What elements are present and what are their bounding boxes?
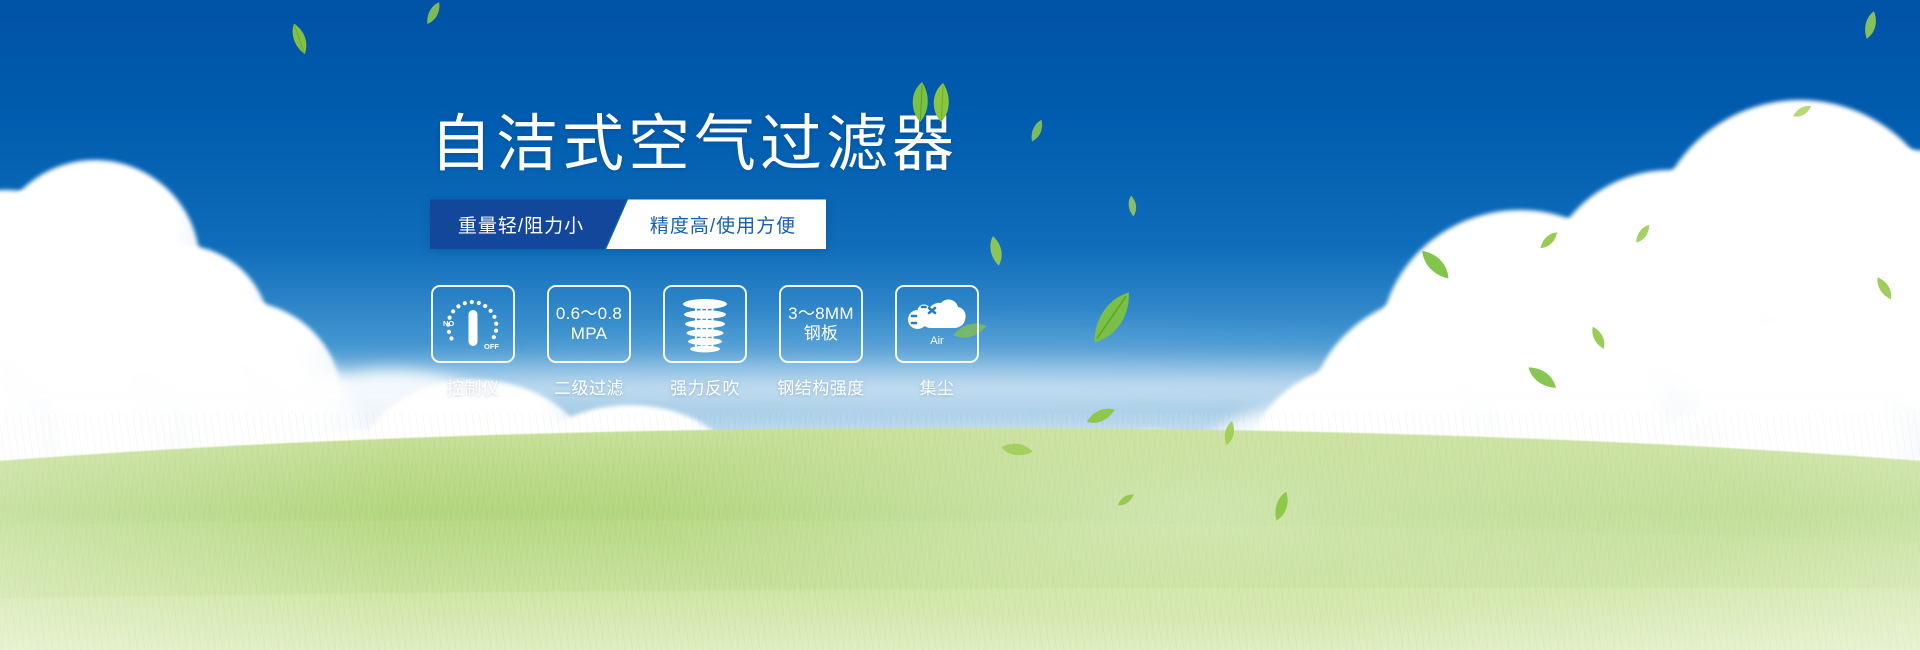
steel-value-line1: 3～8MM (788, 304, 854, 323)
floating-leaf-icon (1789, 100, 1815, 123)
floating-leaf-icon (283, 19, 314, 58)
feature-item-controller[interactable]: NO OFF 控制仪 (430, 285, 516, 399)
feature-list: NO OFF 控制仪 0.6～0.8 MPA 二级过滤 (430, 285, 1130, 399)
floating-leaf-icon (1534, 226, 1563, 255)
steel-plate-text-icon: 3～8MM 钢板 (779, 285, 863, 363)
feature-label: 二级过滤 (554, 374, 624, 399)
feature-label: 强力反吹 (670, 374, 740, 399)
feature-label: 控制仪 (447, 374, 500, 399)
feature-item-dust[interactable]: Air 集尘 (894, 285, 980, 399)
air-label: Air (930, 335, 944, 347)
grass-hill-front (0, 588, 1920, 650)
air-cloud-icon: Air (895, 285, 979, 363)
tagline-right: 精度高/使用方便 (606, 199, 826, 249)
banner-stage: 自洁式空气过滤器 重量轻/阻力小 精度高/使用方便 (0, 0, 1920, 650)
page-title: 自洁式空气过滤器 (430, 110, 958, 179)
dial-on-label: NO (443, 319, 454, 328)
feature-label: 集尘 (920, 374, 955, 399)
pressure-value-line1: 0.6～0.8 (556, 304, 622, 323)
floating-leaf-icon (420, 0, 447, 28)
banner-content: 自洁式空气过滤器 重量轻/阻力小 精度高/使用方便 (430, 110, 1130, 399)
filter-cartridge-icon (663, 285, 747, 363)
two-leaves-icon (900, 80, 962, 124)
tagline-bar: 重量轻/阻力小 精度高/使用方便 (430, 199, 826, 249)
pressure-text-icon: 0.6～0.8 MPA (547, 285, 631, 363)
dial-off-label: OFF (484, 342, 499, 351)
grass-field (0, 413, 1920, 650)
floating-leaf-icon (1630, 220, 1656, 247)
feature-item-steel[interactable]: 3～8MM 钢板 钢结构强度 (778, 285, 864, 399)
tagline-left: 重量轻/阻力小 (430, 199, 626, 249)
floating-leaf-icon (1856, 8, 1883, 42)
steel-value-line2: 钢板 (804, 324, 839, 343)
floating-leaf-icon (1585, 323, 1610, 353)
pressure-value-line2: MPA (571, 324, 607, 343)
title-wrap: 自洁式空气过滤器 (430, 110, 958, 179)
floating-leaf-icon (1412, 241, 1458, 288)
feature-item-pressure[interactable]: 0.6～0.8 MPA 二级过滤 (546, 285, 632, 399)
floating-leaf-icon (1869, 272, 1898, 304)
feature-item-backblow[interactable]: 强力反吹 (662, 285, 748, 399)
floating-leaf-icon (1520, 357, 1563, 398)
control-dial-icon: NO OFF (431, 285, 515, 363)
feature-label: 钢结构强度 (777, 374, 865, 399)
